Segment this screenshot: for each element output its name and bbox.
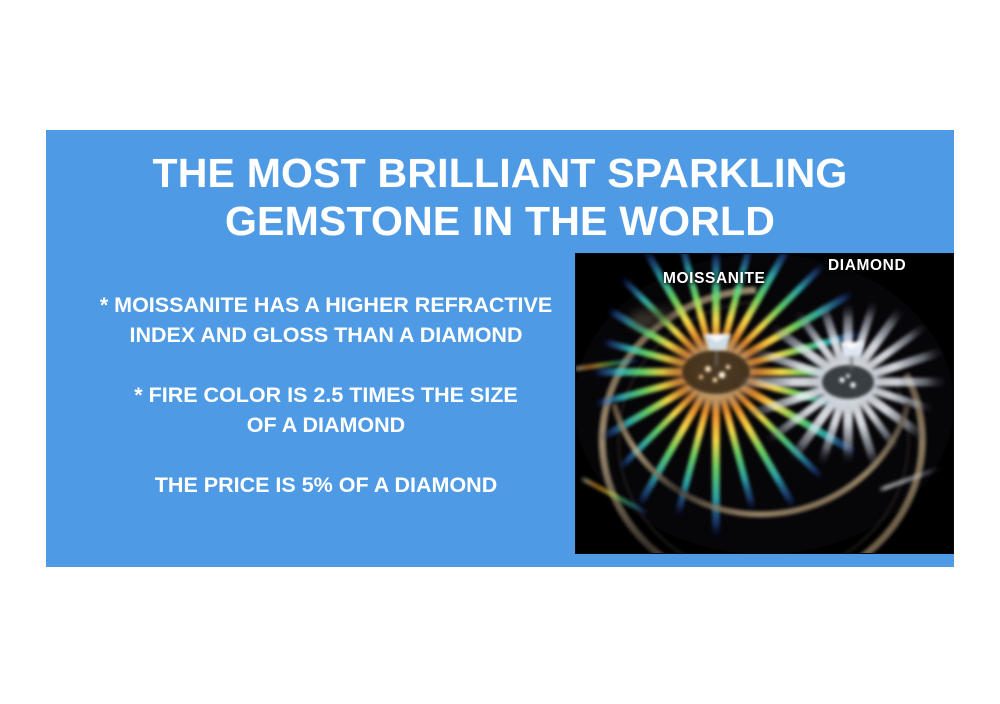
- slide-panel: THE MOST BRILLIANT SPARKLING GEMSTONE IN…: [46, 130, 954, 567]
- photo-label-diamond: DIAMOND: [828, 257, 906, 275]
- gem-comparison-photo: MOISSANITE DIAMOND: [576, 254, 953, 553]
- bullet-list: * MOISSANITE HAS A HIGHER REFRACTIVE IND…: [66, 290, 586, 500]
- gem-photo-illustration: [576, 254, 953, 553]
- bullet-item-refractive-index: * MOISSANITE HAS A HIGHER REFRACTIVE IND…: [66, 290, 586, 350]
- bullet-item-fire-color: * FIRE COLOR IS 2.5 TIMES THE SIZE OF A …: [66, 380, 586, 440]
- bullet-item-price: THE PRICE IS 5% OF A DIAMOND: [66, 470, 586, 500]
- photo-label-moissanite: MOISSANITE: [663, 270, 765, 288]
- page-title: THE MOST BRILLIANT SPARKLING GEMSTONE IN…: [46, 149, 954, 245]
